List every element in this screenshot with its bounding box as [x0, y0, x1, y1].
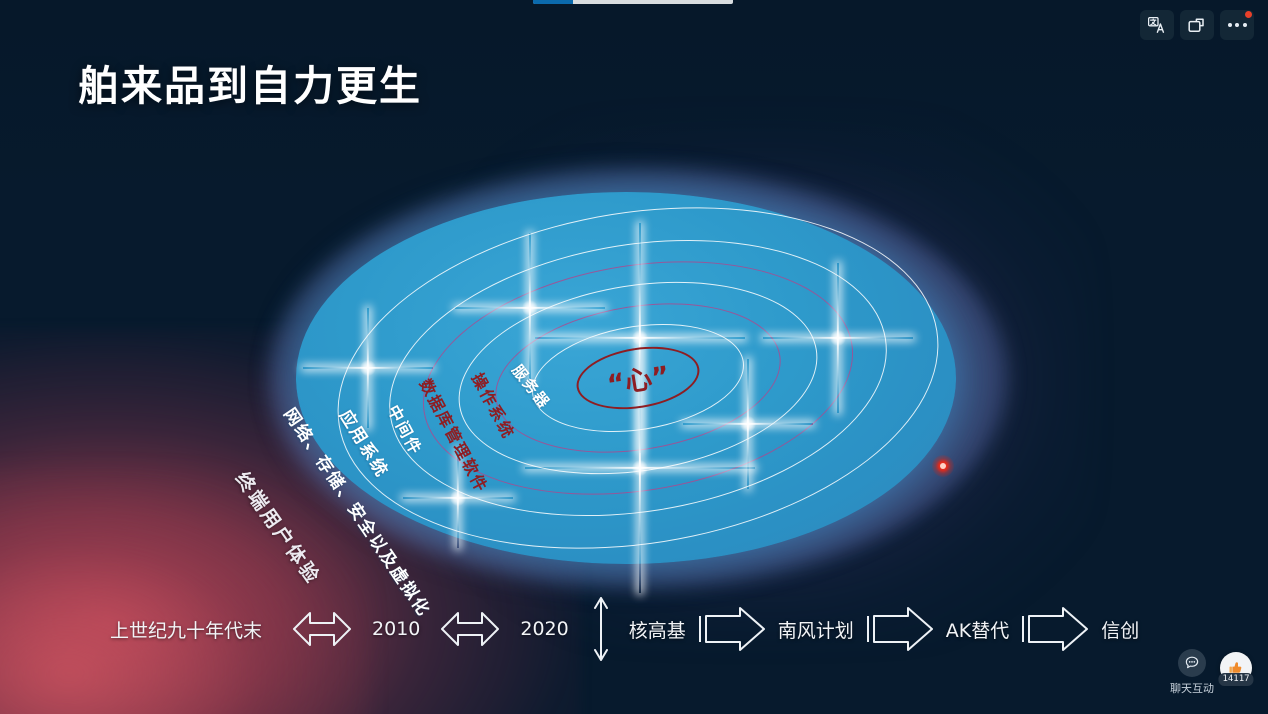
playback-progress-fill	[533, 0, 573, 4]
like-button[interactable]: 14117	[1220, 652, 1252, 684]
chat-label: 聊天互动	[1170, 680, 1214, 696]
slide-title: 舶来品到自力更生	[78, 52, 422, 112]
double-arrow-2	[420, 605, 520, 653]
translate-icon[interactable]	[1140, 10, 1174, 40]
timeline-program-3: 信创	[1101, 616, 1139, 643]
like-count: 14117	[1218, 673, 1253, 686]
chat-button[interactable]: 聊天互动	[1170, 649, 1214, 696]
playback-progress-bar[interactable]	[533, 0, 733, 4]
more-options-icon[interactable]	[1220, 10, 1254, 40]
timeline-strip: 上世纪九十年代末 2010 2020 核高基 南风计划 AK替代 信创	[0, 594, 1268, 664]
timeline-program-2: AK替代	[946, 616, 1009, 643]
share-screen-icon[interactable]	[1180, 10, 1214, 40]
timeline-era-1: 2010	[372, 618, 420, 640]
top-toolbar	[1140, 10, 1254, 40]
timeline-era-2: 2020	[520, 618, 568, 640]
presentation-viewer: 舶来品到自力更生 “心” 服务器 操作系统 数据库管理软件 中间件 应用系统 网…	[0, 0, 1268, 714]
laser-pointer	[932, 455, 954, 477]
single-arrow-1	[686, 604, 778, 654]
timeline-era-0: 上世纪九十年代末	[110, 616, 262, 643]
chat-bubble-icon	[1178, 649, 1206, 677]
single-arrow-2	[854, 604, 946, 654]
single-arrow-3	[1009, 604, 1101, 654]
notification-badge	[1245, 11, 1252, 18]
concentric-ellipse-diagram: “心” 服务器 操作系统 数据库管理软件 中间件 应用系统 网络、存储、安全以及…	[268, 168, 1008, 588]
timeline-program-1: 南风计划	[778, 616, 854, 643]
vertical-divider-arrow	[591, 596, 611, 662]
more-dots	[1228, 23, 1247, 27]
timeline-program-0: 核高基	[629, 616, 686, 643]
double-arrow-1	[272, 605, 372, 653]
